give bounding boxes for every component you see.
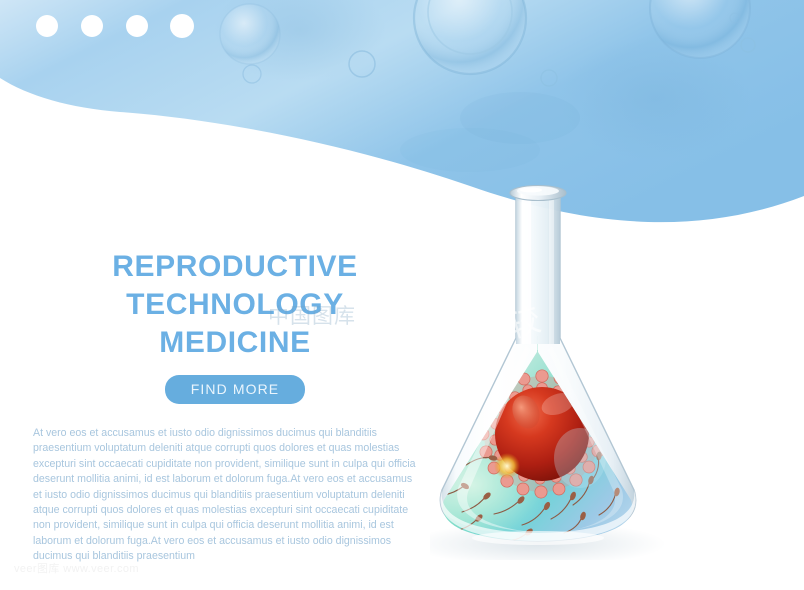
footer-watermark: veer图库 www.veer.com bbox=[14, 560, 139, 576]
header-dot bbox=[170, 14, 194, 38]
hero-copy: REPRODUCTIVE TECHNOLOGY MEDICINE FIND MO… bbox=[0, 248, 500, 565]
header-dot bbox=[36, 15, 58, 37]
header-dot bbox=[126, 15, 148, 37]
find-more-button[interactable]: FIND MORE bbox=[165, 375, 305, 404]
center-watermark: 中国图库 bbox=[268, 300, 598, 340]
hero-body-text: At vero eos et accusamus et iusto odio d… bbox=[33, 426, 423, 565]
cta-row: FIND MORE bbox=[0, 375, 470, 404]
poster-canvas: REPRODUCTIVE TECHNOLOGY MEDICINE FIND MO… bbox=[0, 0, 804, 590]
header-dot bbox=[81, 15, 103, 37]
